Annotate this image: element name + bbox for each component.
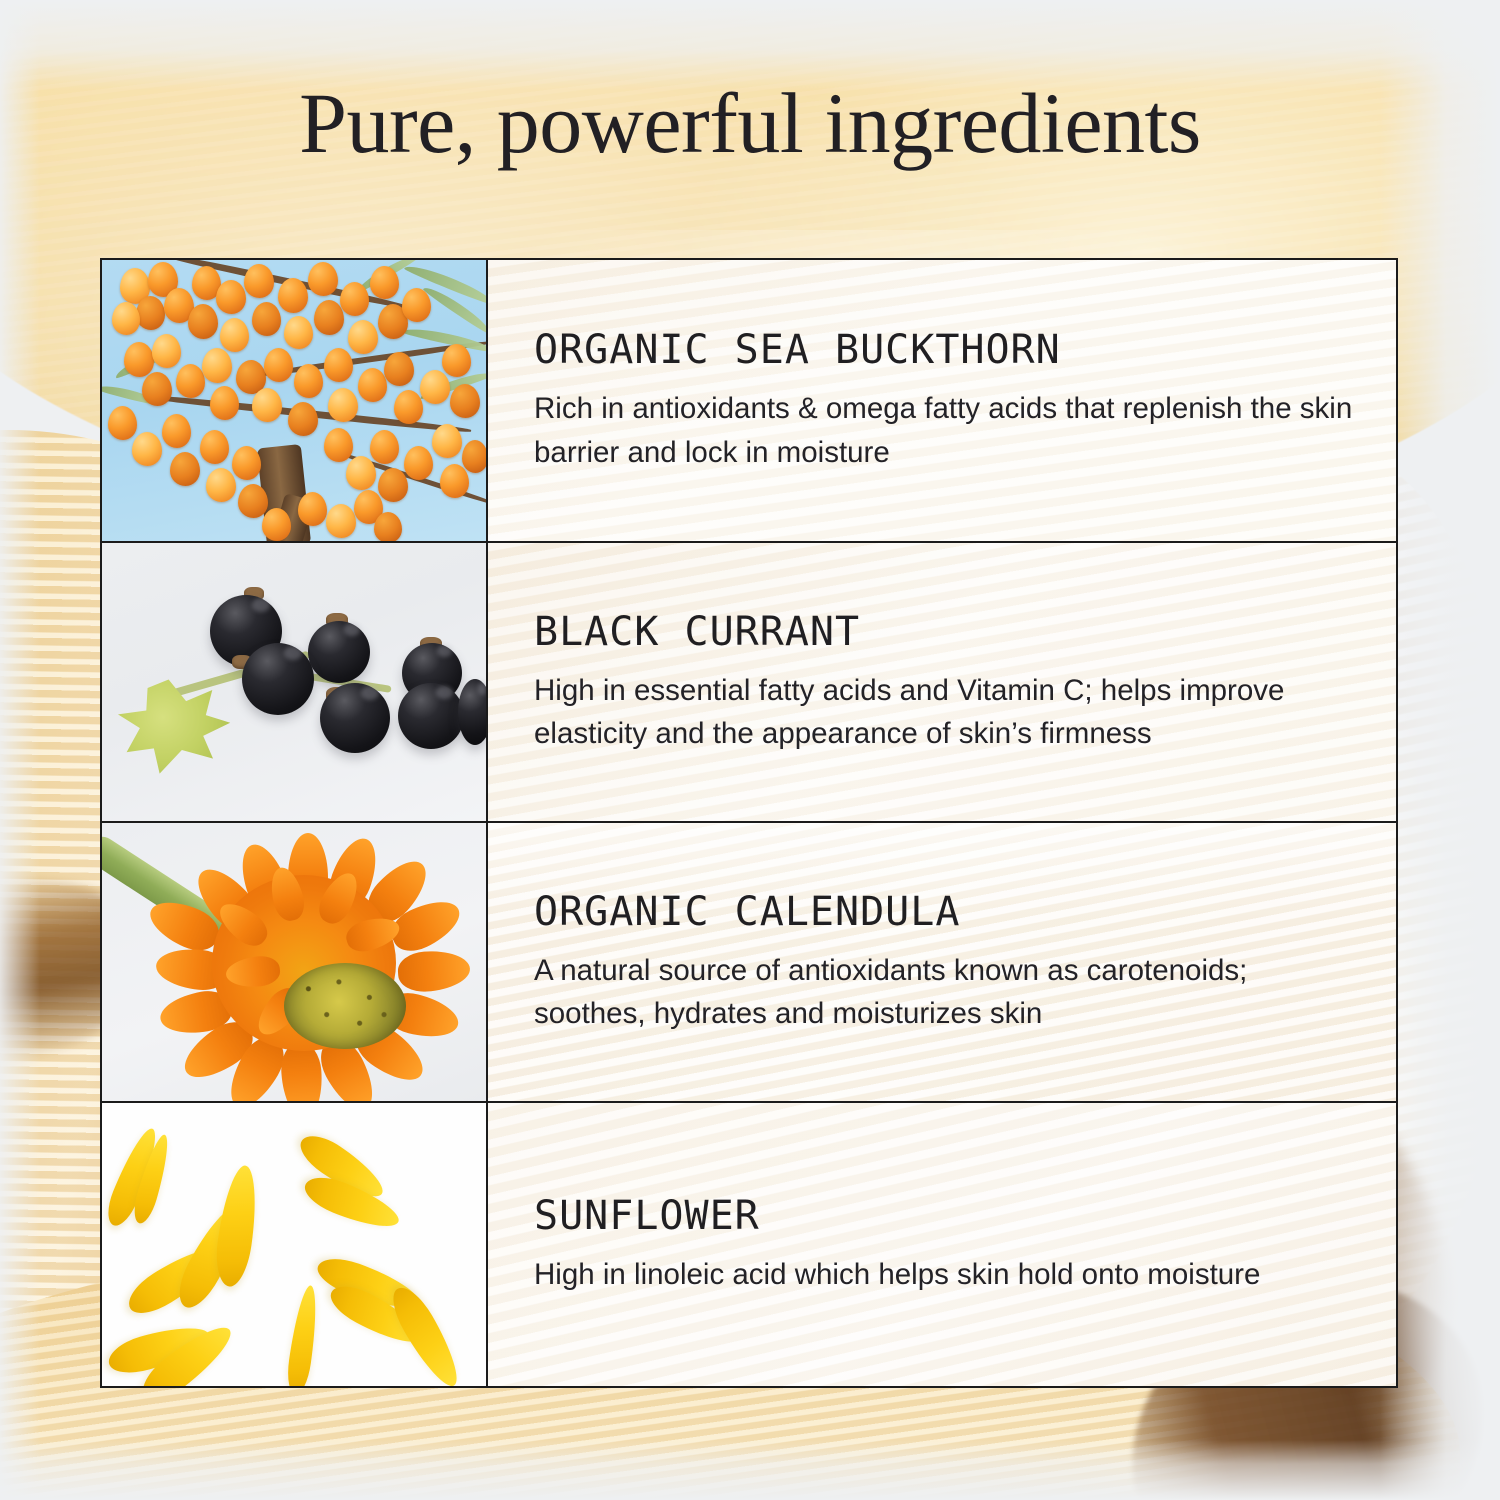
ingredients-infographic: Pure, powerful ingredients <box>0 0 1500 1500</box>
ingredient-text-black-currant: BLACK CURRANT High in essential fatty ac… <box>488 543 1396 821</box>
page-edge-bottom <box>0 1440 1500 1500</box>
table-row: ORGANIC CALENDULA A natural source of an… <box>102 823 1396 1103</box>
page-edge-right <box>1380 0 1500 1500</box>
table-row: ORGANIC SEA BUCKTHORN Rich in antioxidan… <box>102 260 1396 543</box>
ingredient-image-sunflower <box>102 1103 488 1386</box>
ingredient-name: BLACK CURRANT <box>534 609 1362 655</box>
table-row: SUNFLOWER High in linoleic acid which he… <box>102 1103 1396 1386</box>
ingredient-description: High in essential fatty acids and Vitami… <box>534 669 1362 755</box>
ingredients-table: ORGANIC SEA BUCKTHORN Rich in antioxidan… <box>100 258 1398 1388</box>
ingredient-image-calendula <box>102 823 488 1101</box>
ingredient-image-black-currant <box>102 543 488 821</box>
ingredient-image-sea-buckthorn <box>102 260 488 541</box>
ingredient-description: Rich in antioxidants & omega fatty acids… <box>534 387 1362 473</box>
ingredient-description: High in linoleic acid which helps skin h… <box>534 1253 1362 1296</box>
ingredient-name: ORGANIC SEA BUCKTHORN <box>534 327 1362 373</box>
page-edge-left <box>0 0 40 1500</box>
ingredient-description: A natural source of antioxidants known a… <box>534 949 1362 1035</box>
ingredient-name: ORGANIC CALENDULA <box>534 889 1362 935</box>
ingredient-name: SUNFLOWER <box>534 1193 1362 1239</box>
ingredient-text-sea-buckthorn: ORGANIC SEA BUCKTHORN Rich in antioxidan… <box>488 260 1396 541</box>
ingredient-text-calendula: ORGANIC CALENDULA A natural source of an… <box>488 823 1396 1101</box>
page-title: Pure, powerful ingredients <box>0 78 1500 168</box>
table-row: BLACK CURRANT High in essential fatty ac… <box>102 543 1396 823</box>
ingredient-text-sunflower: SUNFLOWER High in linoleic acid which he… <box>488 1103 1396 1386</box>
